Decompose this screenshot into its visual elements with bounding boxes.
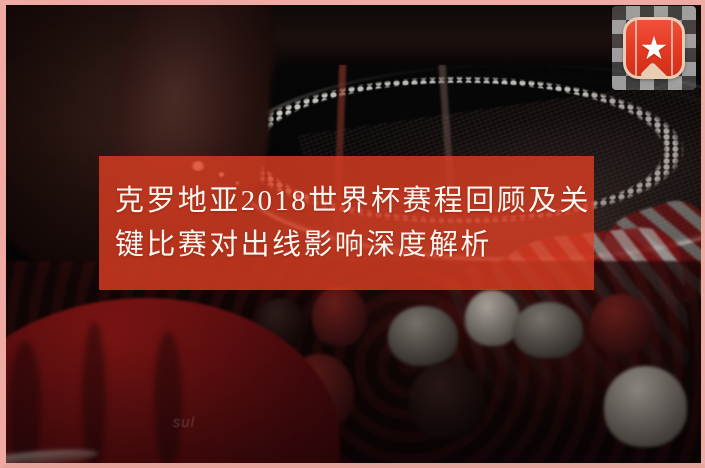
crowd-head — [388, 306, 458, 366]
jersey-fold — [154, 331, 182, 463]
title-line-1: 克罗地亚2018世界杯赛程回顾及关 — [115, 179, 580, 223]
crowd-head — [312, 286, 368, 346]
jersey-fold — [9, 341, 41, 463]
crowd-head — [409, 362, 485, 439]
crowd-head — [604, 366, 687, 447]
star-icon: ★ — [640, 32, 669, 64]
title-line-2: 键比赛对出线影响深度解析 — [115, 223, 580, 267]
title-banner: 克罗地亚2018世界杯赛程回顾及关 键比赛对出线影响深度解析 — [99, 156, 594, 290]
jersey-sponsor-text: sul — [173, 414, 195, 431]
crowd-head — [513, 302, 583, 358]
jersey-fold — [82, 322, 106, 463]
star-app-badge[interactable]: ★ — [612, 6, 696, 90]
cover-image-card: sul 克罗地亚2018世界杯赛程回顾及关 键比赛对出线影响深度解析 ★ — [0, 0, 705, 468]
app-icon: ★ — [623, 17, 685, 79]
crowd-head — [590, 294, 653, 354]
crowd-head — [465, 290, 521, 346]
